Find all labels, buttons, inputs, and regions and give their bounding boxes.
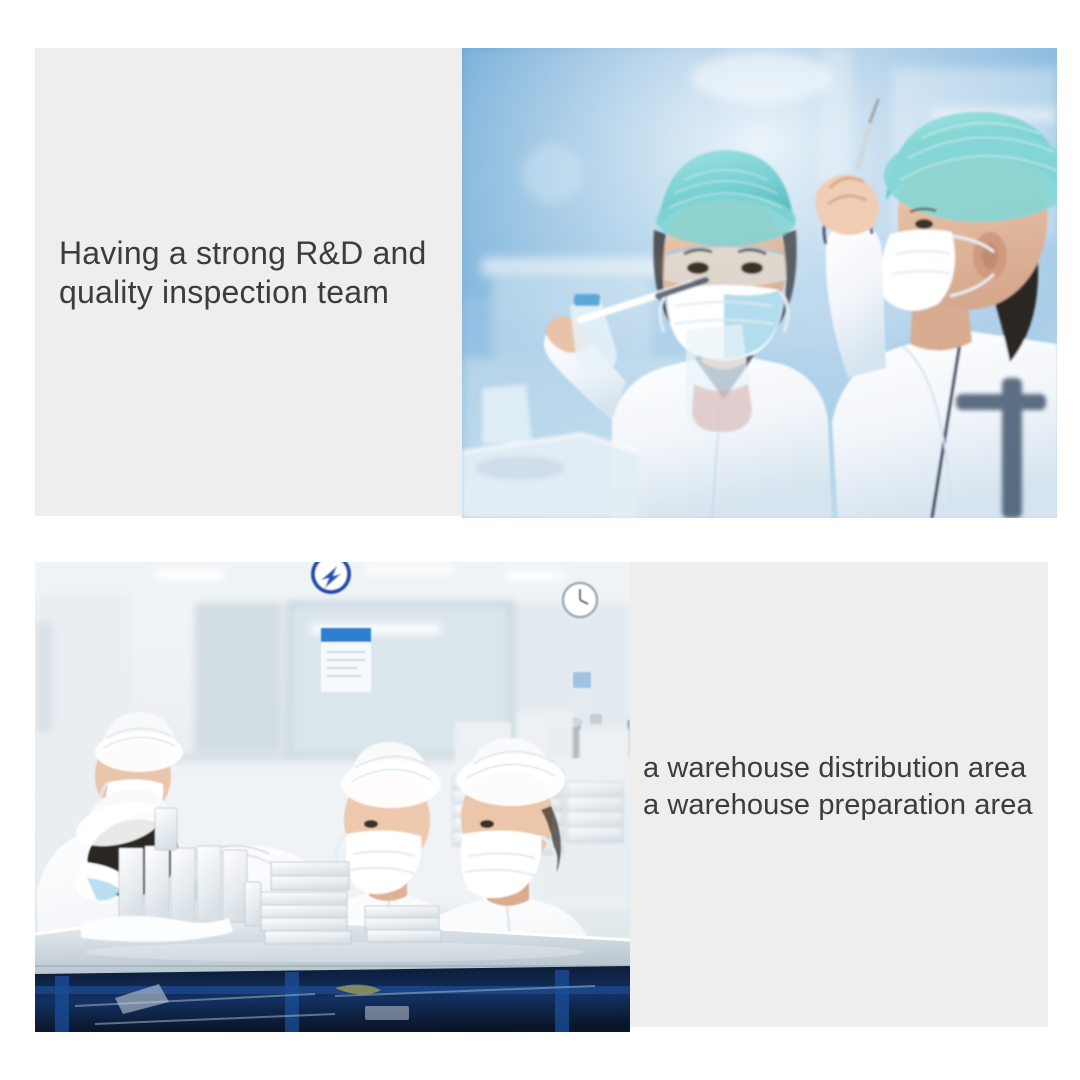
warehouse-packing-illustration [35, 562, 630, 1032]
section-rd-quality: Having a strong R&D and quality inspecti… [35, 48, 1057, 518]
lab-technicians-illustration [462, 48, 1057, 518]
caption-rd-quality: Having a strong R&D and quality inspecti… [59, 234, 454, 312]
warehouse-packing-photo [35, 562, 630, 1032]
page-canvas: Having a strong R&D and quality inspecti… [0, 0, 1080, 1080]
caption-warehouse: a warehouse distribution area a warehous… [643, 750, 1048, 824]
lab-technicians-photo [462, 48, 1057, 518]
section-warehouse: a warehouse distribution area a warehous… [35, 562, 1048, 1032]
